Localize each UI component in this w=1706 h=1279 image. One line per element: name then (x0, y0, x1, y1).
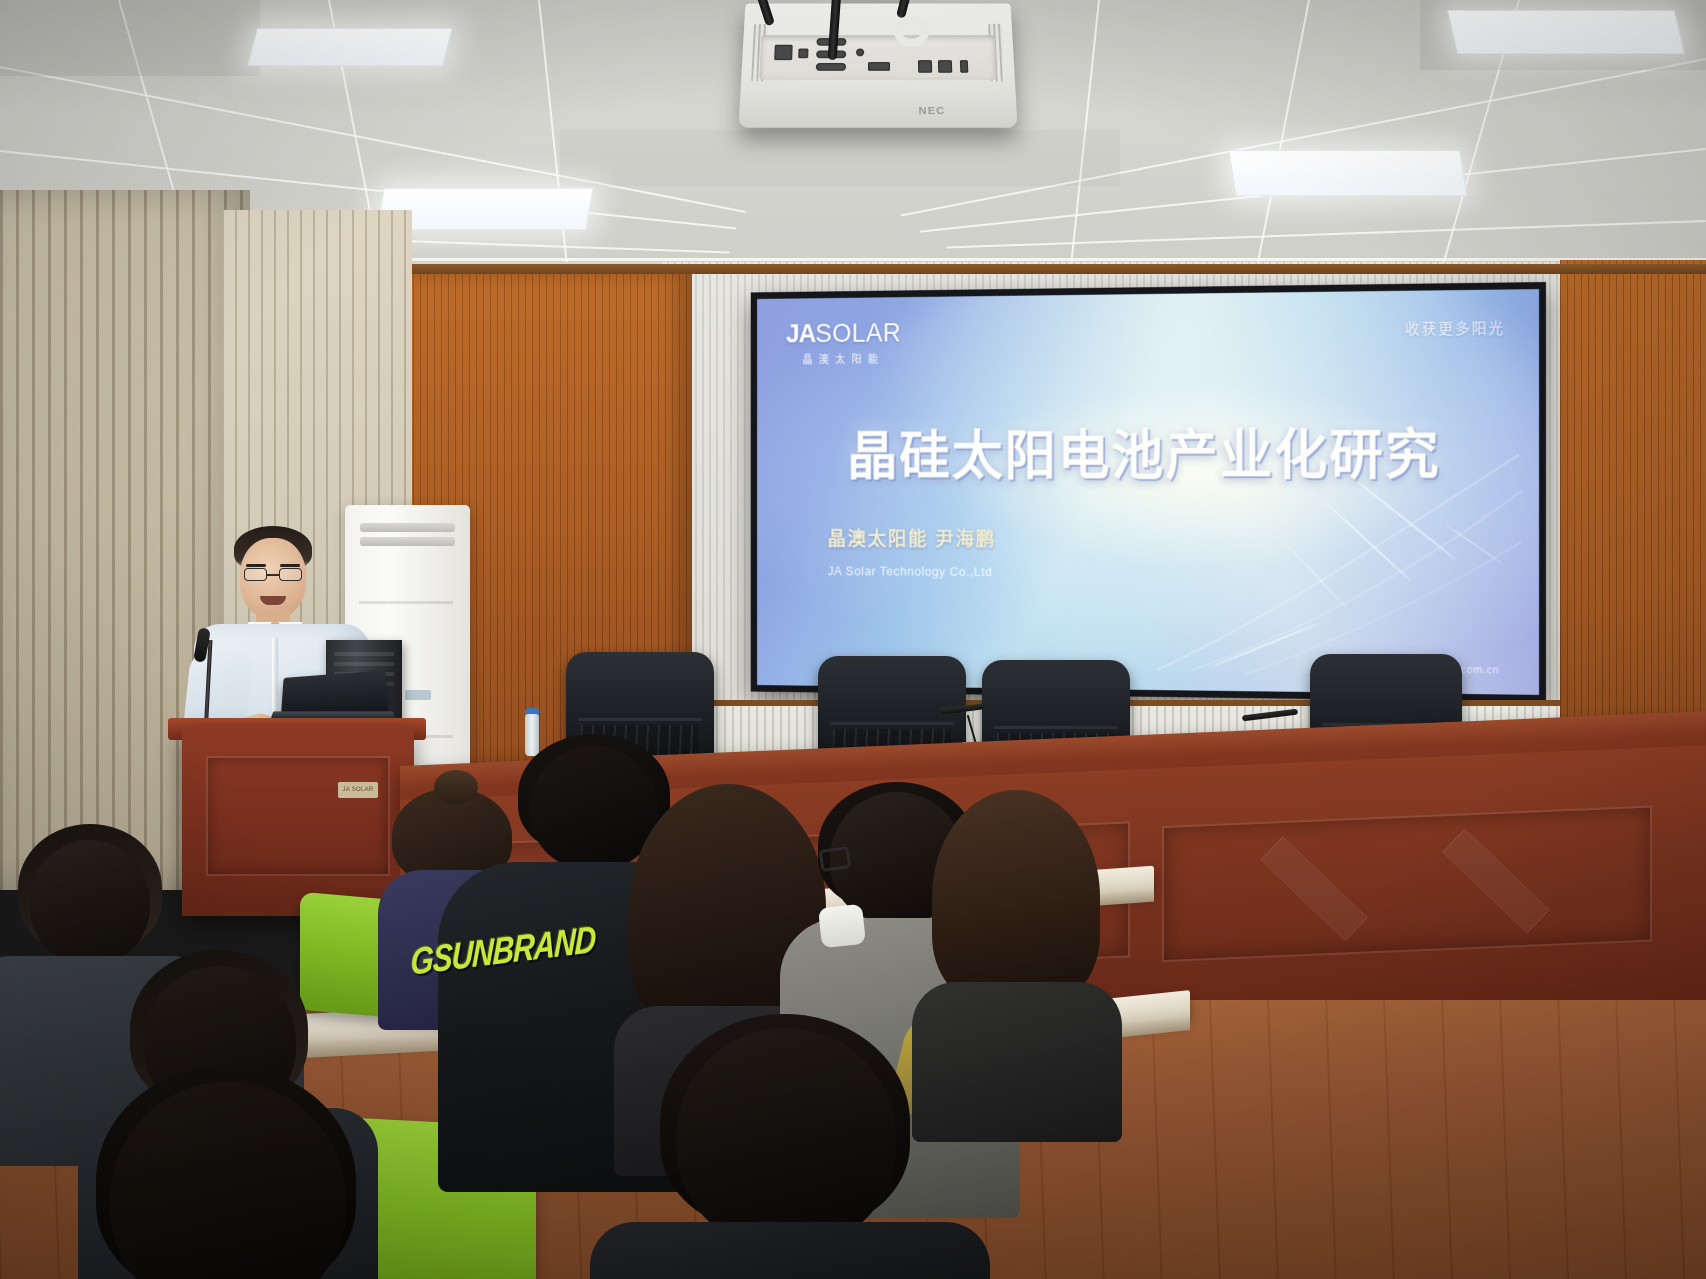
conference-room-photo: NEC JASOLAR 晶澳太阳能 收获更多阳光 (0, 0, 1706, 1279)
podium-nameplate: JA SOLAR (338, 782, 378, 798)
wall-rail (392, 264, 1706, 274)
logo-solar: SOLAR (815, 318, 901, 348)
projector-brand-label: NEC (918, 106, 945, 117)
slide-title: 晶硅太阳电池产业化研究 (757, 409, 1539, 489)
slide-slogan: 收获更多阳光 (1405, 317, 1505, 339)
ceiling-light (247, 28, 452, 66)
ceiling-projector: NEC (738, 3, 1017, 127)
water-bottle (525, 714, 539, 756)
podium: JA SOLAR (182, 726, 414, 916)
presentation-slide: JASOLAR 晶澳太阳能 收获更多阳光 晶硅太阳电池产业化研究 晶澳太阳能 尹… (757, 289, 1539, 695)
logo-chinese-name: 晶澳太阳能 (786, 351, 901, 367)
ceiling-light (1228, 150, 1467, 196)
projector-port-panel (759, 35, 997, 79)
logo-ja: JA (786, 319, 815, 348)
presenter-glasses (244, 568, 302, 582)
ja-solar-logo: JASOLAR 晶澳太阳能 (786, 318, 901, 367)
slide-author: 晶澳太阳能 尹海鹏 (828, 524, 997, 552)
ceiling-light (1447, 10, 1685, 54)
projection-screen: JASOLAR 晶澳太阳能 收获更多阳光 晶硅太阳电池产业化研究 晶澳太阳能 尹… (751, 282, 1546, 702)
slide-company: JA Solar Technology Co.,Ltd (828, 564, 993, 579)
